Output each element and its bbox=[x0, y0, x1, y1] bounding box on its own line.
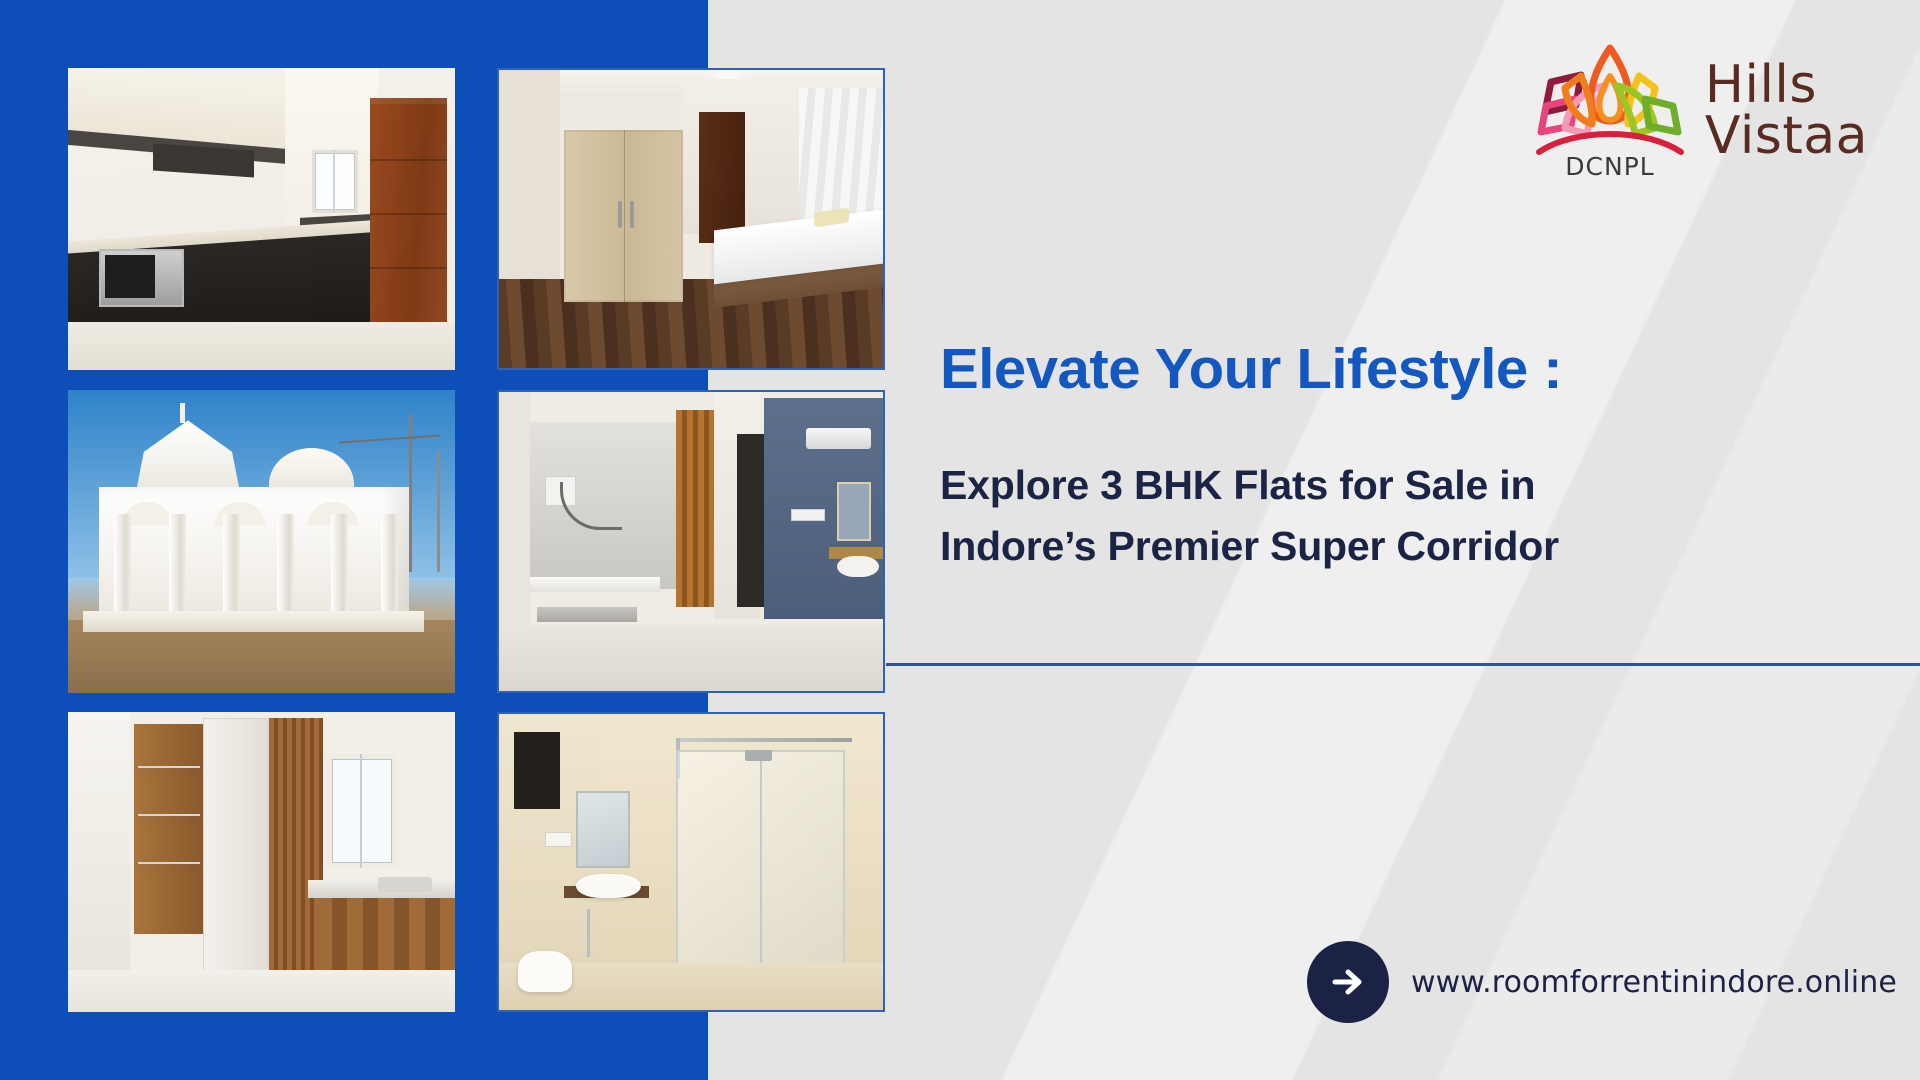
brand-name-line1: Hills bbox=[1705, 60, 1868, 111]
brand-name: Hills Vistaa bbox=[1705, 60, 1868, 162]
hero-subheading-line2: Indore’s Premier Super Corridor bbox=[940, 516, 1840, 577]
gallery-photo-bathroom bbox=[497, 712, 885, 1012]
website-link[interactable]: www.roomforrentinindore.online bbox=[1307, 941, 1897, 1023]
hero-subheading-line1: Explore 3 BHK Flats for Sale in bbox=[940, 455, 1840, 516]
photo-gallery-grid bbox=[0, 0, 900, 1080]
website-url-text[interactable]: www.roomforrentinindore.online bbox=[1411, 965, 1897, 1000]
photo-partition-art bbox=[68, 712, 455, 1012]
hero-headline: Elevate Your Lifestyle : bbox=[940, 336, 1919, 402]
gallery-photo-living bbox=[497, 390, 885, 693]
photo-bathroom-art bbox=[499, 714, 883, 1010]
photo-temple-art bbox=[68, 390, 455, 693]
gallery-photo-bedroom bbox=[497, 68, 885, 370]
photo-kitchen-art bbox=[68, 68, 455, 370]
arrow-right-icon[interactable] bbox=[1307, 941, 1389, 1023]
gallery-photo-kitchen bbox=[68, 68, 455, 370]
hero-subheading: Explore 3 BHK Flats for Sale in Indore’s… bbox=[940, 455, 1840, 576]
brand-logo: DCNPL Hills Vistaa bbox=[1535, 36, 1868, 186]
lotus-petal-icon: DCNPL bbox=[1535, 36, 1685, 186]
gallery-photo-temple bbox=[68, 390, 455, 693]
photo-living-art bbox=[499, 392, 883, 691]
svg-text:DCNPL: DCNPL bbox=[1565, 152, 1654, 181]
gallery-photo-partition bbox=[68, 712, 455, 1012]
photo-bedroom-art bbox=[499, 70, 883, 368]
brand-name-line2: Vistaa bbox=[1705, 111, 1868, 162]
section-divider bbox=[886, 663, 1920, 666]
